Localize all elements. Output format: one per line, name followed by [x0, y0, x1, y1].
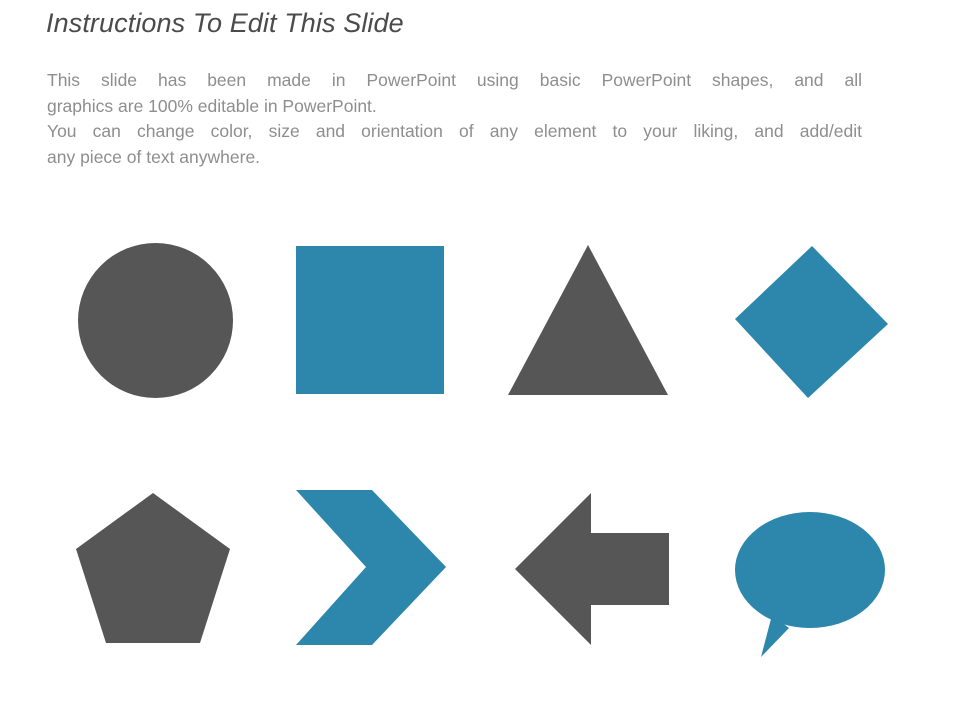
slide-canvas: Instructions To Edit This Slide This sli… [0, 0, 960, 720]
triangle-shape[interactable] [508, 245, 668, 395]
triangle-icon [508, 245, 668, 395]
speech-bubble-shape[interactable] [733, 511, 887, 657]
square-icon [296, 246, 444, 394]
pentagon-shape[interactable] [76, 493, 230, 643]
square-shape[interactable] [296, 246, 444, 394]
instructions-line-2: graphics are 100% editable in PowerPoint… [47, 94, 862, 120]
diamond-icon [732, 243, 888, 401]
page-title: Instructions To Edit This Slide [46, 8, 746, 39]
instructions-line-1: This slide has been made in PowerPoint u… [47, 68, 862, 94]
pentagon-icon [76, 493, 230, 643]
instructions-line-4: any piece of text anywhere. [47, 145, 862, 171]
speech-bubble-icon [733, 511, 887, 657]
chevron-right-icon [294, 490, 446, 645]
circle-shape[interactable] [78, 243, 233, 398]
chevron-shape[interactable] [294, 490, 446, 645]
arrow-left-shape[interactable] [515, 493, 669, 645]
diamond-shape[interactable] [732, 243, 888, 401]
instructions-text-block: This slide has been made in PowerPoint u… [47, 68, 862, 170]
circle-icon [78, 243, 233, 398]
instructions-line-3: You can change color, size and orientati… [47, 119, 862, 145]
arrow-left-icon [515, 493, 669, 645]
